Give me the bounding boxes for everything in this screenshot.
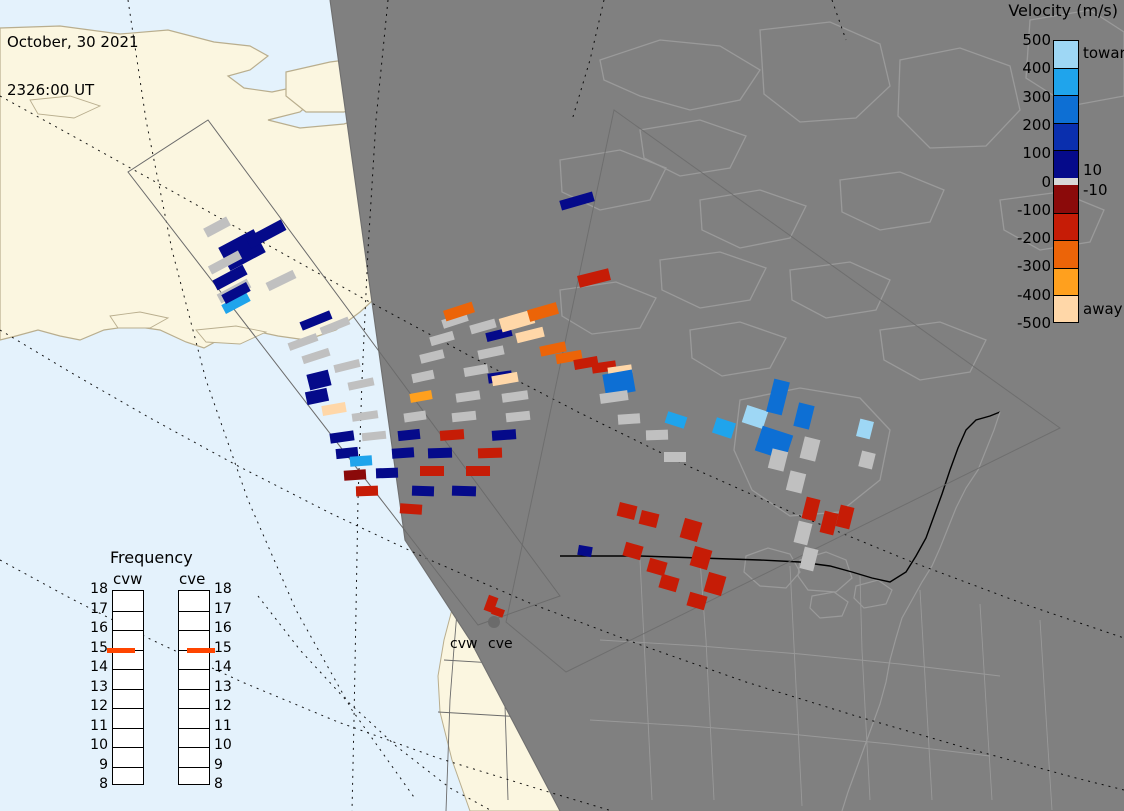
frequency-scale-label-cvw-8: 8 bbox=[82, 776, 108, 792]
frequency-title: Frequency bbox=[110, 548, 193, 567]
frequency-gridline bbox=[179, 630, 209, 631]
frequency-gridline bbox=[179, 611, 209, 612]
colorbar-tick-200: 200 bbox=[979, 116, 1051, 134]
velocity-cell bbox=[440, 429, 465, 441]
frequency-panel: Frequency cvw cve 18171615141312111098 1… bbox=[88, 548, 248, 788]
velocity-cell bbox=[478, 448, 502, 459]
frequency-scale-label-cvw-13: 13 bbox=[82, 679, 108, 695]
velocity-cell bbox=[400, 503, 423, 515]
colorbar-divider bbox=[1053, 213, 1079, 214]
velocity-cell bbox=[420, 466, 444, 476]
colorbar-segment--450 bbox=[1053, 295, 1079, 323]
velocity-colorbar-panel: Velocity (m/s) 5004003002001000-100-200-… bbox=[960, 0, 1124, 340]
colorbar-divider bbox=[1053, 150, 1079, 151]
frequency-gridline bbox=[179, 669, 209, 670]
colorbar-tick--200: -200 bbox=[979, 229, 1051, 247]
colorbar-tick--500: -500 bbox=[979, 314, 1051, 332]
colorbar-segment-50 bbox=[1053, 150, 1079, 178]
frequency-indicator-cvw bbox=[107, 648, 135, 653]
velocity-cell bbox=[428, 448, 452, 459]
colorbar-divider bbox=[1053, 95, 1079, 96]
frequency-gridline bbox=[113, 669, 143, 670]
frequency-scale-label-cvw-16: 16 bbox=[82, 620, 108, 636]
frequency-gridline bbox=[113, 747, 143, 748]
colorbar-segment--250 bbox=[1053, 240, 1079, 268]
colorbar-divider bbox=[1053, 295, 1079, 296]
frequency-gridline bbox=[113, 728, 143, 729]
colorbar-tick-labels: 5004003002001000-100-200-300-400-500 bbox=[973, 0, 1051, 340]
colorbar-negative-threshold: -10 bbox=[1083, 181, 1108, 199]
frequency-gauge-cve[interactable] bbox=[178, 590, 210, 785]
frequency-scale-label-cve-14: 14 bbox=[214, 659, 240, 675]
colorbar-segment-350 bbox=[1053, 68, 1079, 96]
colorbar-divider bbox=[1053, 123, 1079, 124]
timestamp-date: October, 30 2021 bbox=[7, 34, 139, 50]
velocity-cell bbox=[392, 447, 415, 459]
colorbar-segment--350 bbox=[1053, 268, 1079, 296]
colorbar-segment-150 bbox=[1053, 123, 1079, 151]
velocity-cell bbox=[466, 466, 490, 476]
colorbar-tick-0: 0 bbox=[979, 173, 1051, 191]
colorbar-segment-0 bbox=[1053, 178, 1079, 185]
colorbar-tick-400: 400 bbox=[979, 59, 1051, 77]
frequency-gridline bbox=[113, 630, 143, 631]
site-label-cvw: cvw bbox=[450, 636, 477, 652]
frequency-gridline bbox=[179, 708, 209, 709]
frequency-scale-label-cvw-18: 18 bbox=[82, 581, 108, 597]
frequency-scale-label-cvw-12: 12 bbox=[82, 698, 108, 714]
frequency-scale-label-cvw-10: 10 bbox=[82, 737, 108, 753]
radar-site-marker bbox=[488, 616, 500, 628]
colorbar-divider bbox=[1053, 268, 1079, 269]
frequency-gridline bbox=[113, 611, 143, 612]
frequency-scale-label-cvw-17: 17 bbox=[82, 601, 108, 617]
colorbar-divider bbox=[1053, 240, 1079, 241]
ground-scatter-cell bbox=[646, 430, 668, 441]
velocity-cell bbox=[350, 455, 373, 467]
colorbar-toward-label: toward bbox=[1083, 44, 1124, 62]
colorbar-gradient[interactable] bbox=[1053, 40, 1079, 323]
frequency-gridline bbox=[179, 728, 209, 729]
frequency-scale-label-cve-9: 9 bbox=[214, 757, 240, 773]
ground-scatter-cell bbox=[664, 452, 686, 462]
frequency-scale-label-cve-13: 13 bbox=[214, 679, 240, 695]
ground-scatter-cell bbox=[618, 413, 641, 425]
velocity-cell bbox=[376, 468, 398, 479]
colorbar-tick-500: 500 bbox=[979, 31, 1051, 49]
frequency-gridline bbox=[113, 767, 143, 768]
frequency-gauge-label-cvw: cvw bbox=[113, 570, 142, 588]
fan-plot-stage: October, 30 2021 2326:00 UT Velocity (m/… bbox=[0, 0, 1124, 811]
site-label-cve: cve bbox=[488, 636, 513, 652]
frequency-gridline bbox=[179, 689, 209, 690]
velocity-cell bbox=[412, 486, 434, 497]
frequency-scale-label-cve-18: 18 bbox=[214, 581, 240, 597]
frequency-indicator-cve bbox=[187, 648, 215, 653]
colorbar-segment-450 bbox=[1053, 40, 1079, 68]
frequency-gridline bbox=[179, 747, 209, 748]
frequency-scale-label-cve-10: 10 bbox=[214, 737, 240, 753]
frequency-scale-label-cve-16: 16 bbox=[214, 620, 240, 636]
frequency-scale-label-cvw-15: 15 bbox=[82, 640, 108, 656]
frequency-scale-label-cve-17: 17 bbox=[214, 601, 240, 617]
frequency-gridline bbox=[179, 767, 209, 768]
colorbar-tick--100: -100 bbox=[979, 201, 1051, 219]
frequency-gridline bbox=[113, 708, 143, 709]
velocity-cell bbox=[492, 429, 517, 441]
colorbar-segment--50 bbox=[1053, 185, 1079, 213]
velocity-cell bbox=[452, 486, 476, 497]
frequency-scale-label-cvw-9: 9 bbox=[82, 757, 108, 773]
colorbar-side-labels: toward 10 -10 away bbox=[1083, 0, 1124, 340]
colorbar-tick-100: 100 bbox=[979, 144, 1051, 162]
colorbar-tick--400: -400 bbox=[979, 286, 1051, 304]
velocity-cell bbox=[344, 469, 367, 481]
colorbar-segment--150 bbox=[1053, 213, 1079, 241]
colorbar-segment-250 bbox=[1053, 95, 1079, 123]
frequency-scale-label-cvw-11: 11 bbox=[82, 718, 108, 734]
velocity-cell bbox=[356, 486, 378, 497]
frequency-scale-label-cve-8: 8 bbox=[214, 776, 240, 792]
frequency-gridline bbox=[113, 689, 143, 690]
frequency-scale-label-cvw-14: 14 bbox=[82, 659, 108, 675]
frequency-gauge-label-cve: cve bbox=[179, 570, 205, 588]
colorbar-tick-300: 300 bbox=[979, 88, 1051, 106]
frequency-scale-label-cve-12: 12 bbox=[214, 698, 240, 714]
colorbar-tick--300: -300 bbox=[979, 257, 1051, 275]
colorbar-positive-threshold: 10 bbox=[1083, 161, 1102, 179]
colorbar-divider bbox=[1053, 68, 1079, 69]
frequency-scale-label-cve-11: 11 bbox=[214, 718, 240, 734]
frequency-gauge-cvw[interactable] bbox=[112, 590, 144, 785]
timestamp: October, 30 2021 2326:00 UT bbox=[7, 2, 139, 130]
timestamp-time: 2326:00 UT bbox=[7, 82, 139, 98]
frequency-scale-label-cve-15: 15 bbox=[214, 640, 240, 656]
colorbar-away-label: away bbox=[1083, 300, 1123, 318]
